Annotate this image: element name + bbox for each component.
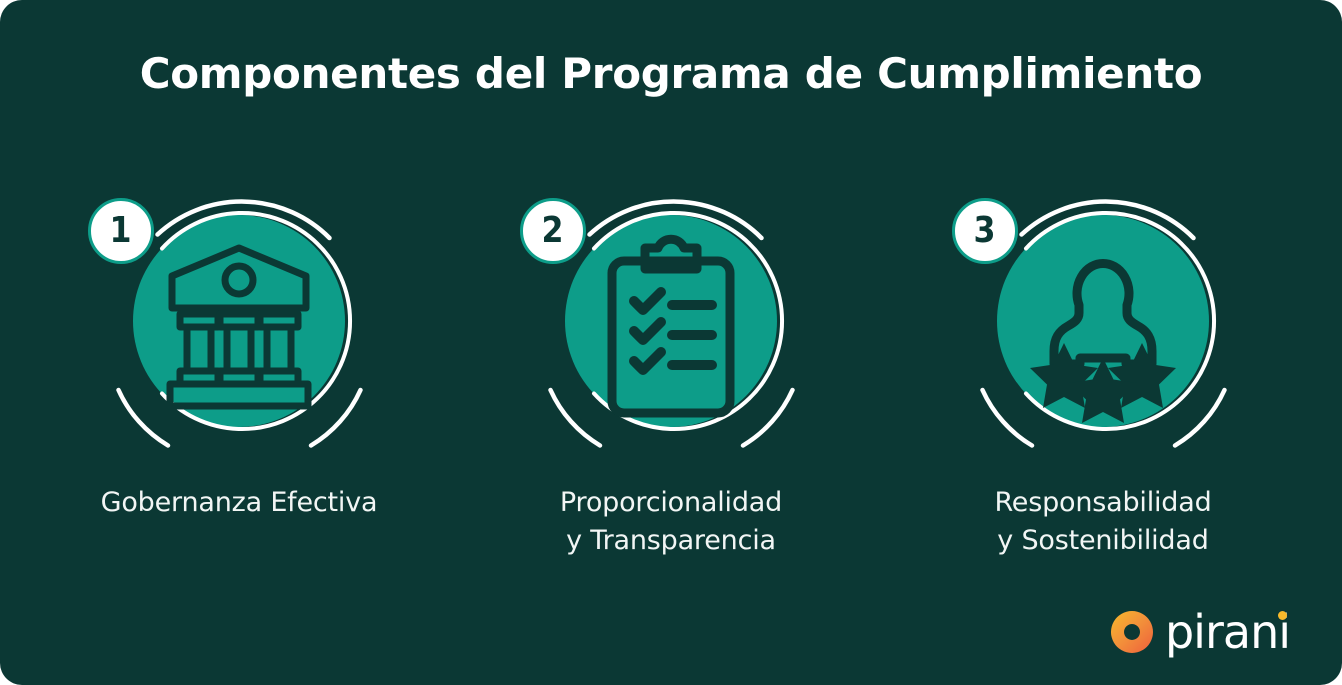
pirani-ring-logo-icon [1111, 611, 1153, 653]
step-2-number: 2 [542, 213, 564, 249]
pirani-i-dot [1278, 611, 1287, 620]
step-item-3: 3 Responsabilidad y Sostenibilidad [887, 168, 1319, 561]
step-2-caption-line2: y Transparencia [560, 522, 782, 560]
step-1-graphic: 1 [84, 168, 394, 460]
step-1-caption-line1: Gobernanza Efectiva [101, 484, 378, 522]
step-3-caption-line2: y Sostenibilidad [994, 522, 1211, 560]
pirani-wordmark-text: pirani [1165, 605, 1290, 659]
step-1-number: 1 [110, 213, 132, 249]
step-2-graphic: 2 [516, 168, 826, 460]
step-3-caption-line1: Responsabilidad [994, 484, 1211, 522]
step-2-number-badge: 2 [520, 198, 586, 264]
step-3-number: 3 [974, 213, 996, 249]
step-3-number-badge: 3 [952, 198, 1018, 264]
steps-container: 1 Gobernanza Efectiva [0, 168, 1342, 561]
step-item-2: 2 Proporcionalidad y Transparencia [455, 168, 887, 561]
step-1-caption: Gobernanza Efectiva [101, 484, 378, 522]
step-3-caption: Responsabilidad y Sostenibilidad [994, 484, 1211, 561]
infographic-canvas: Componentes del Programa de Cumplimiento [0, 0, 1342, 685]
pirani-wordmark: pirani [1165, 609, 1290, 655]
step-2-caption-line1: Proporcionalidad [560, 484, 782, 522]
step-3-graphic: 3 [948, 168, 1258, 460]
pirani-logo: pirani [1111, 609, 1290, 655]
step-item-1: 1 Gobernanza Efectiva [23, 168, 455, 522]
page-title: Componentes del Programa de Cumplimiento [0, 50, 1342, 98]
step-1-number-badge: 1 [88, 198, 154, 264]
step-2-caption: Proporcionalidad y Transparencia [560, 484, 782, 561]
